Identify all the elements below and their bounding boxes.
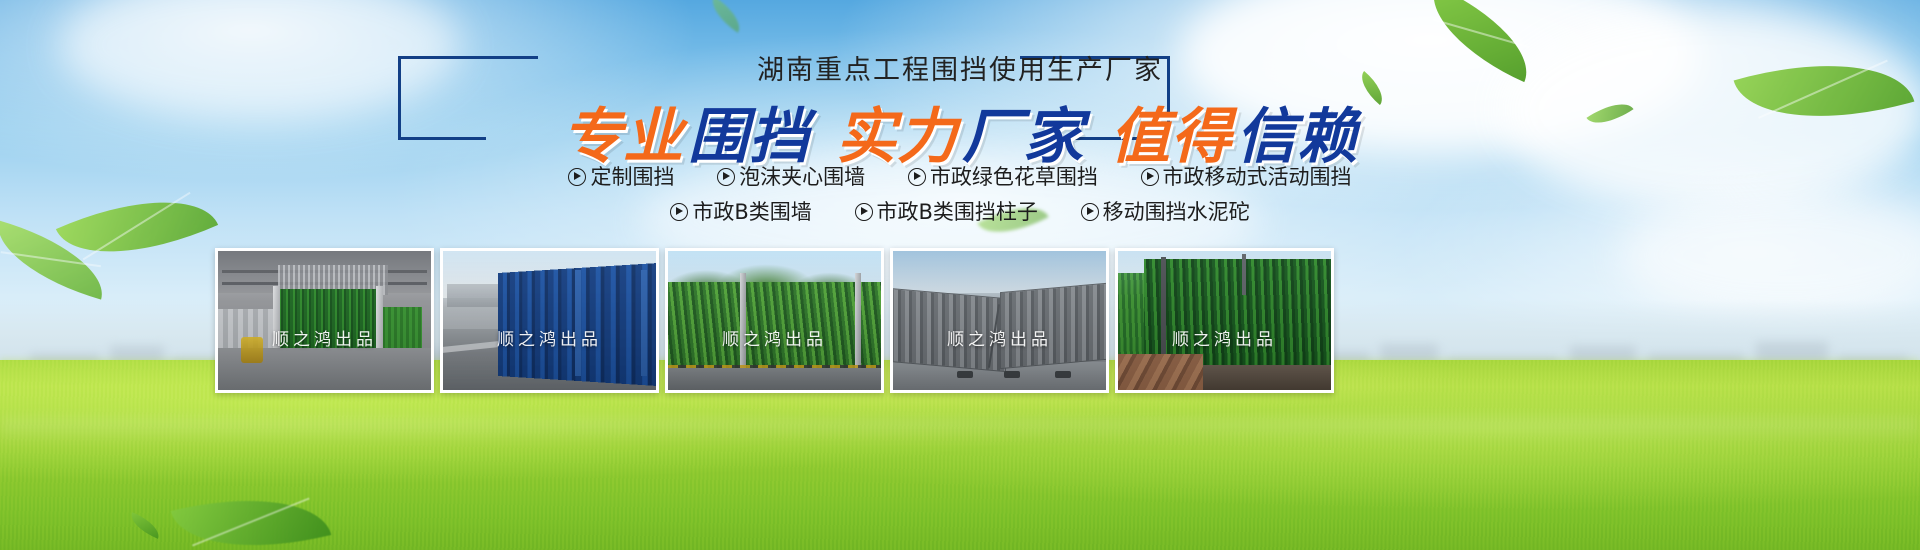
product-thumbnail[interactable]: 顺之鸿出品 bbox=[215, 248, 434, 393]
product-thumbnail[interactable]: 顺之鸿出品 bbox=[440, 248, 659, 393]
feature-item[interactable]: 泡沫夹心围墙 bbox=[717, 161, 865, 191]
feature-list-row-2: 市政B类围墙 市政B类围挡柱子 移动围挡水泥砣 bbox=[0, 196, 1920, 226]
play-circle-icon bbox=[717, 168, 735, 186]
product-thumbnail-gallery: 顺之鸿出品 顺之鸿出品 bbox=[215, 248, 1350, 393]
feature-item[interactable]: 市政B类围墙 bbox=[670, 196, 811, 226]
feature-label: 市政B类围墙 bbox=[692, 200, 811, 224]
promo-banner: 湖南重点工程围挡使用生产厂家 专业围挡实力厂家值得信赖 定制围挡 泡沫夹心围墙 … bbox=[0, 0, 1920, 550]
feature-list-row-1: 定制围挡 泡沫夹心围墙 市政绿色花草围挡 市政移动式活动围挡 bbox=[0, 161, 1920, 191]
product-thumbnail[interactable]: 顺之鸿出品 bbox=[1115, 248, 1334, 393]
play-circle-icon bbox=[670, 203, 688, 221]
feature-label: 市政移动式活动围挡 bbox=[1163, 165, 1352, 189]
product-thumbnail[interactable]: 顺之鸿出品 bbox=[665, 248, 884, 393]
play-circle-icon bbox=[908, 168, 926, 186]
feature-label: 市政绿色花草围挡 bbox=[930, 165, 1098, 189]
feature-label: 定制围挡 bbox=[590, 165, 674, 189]
grass-highlight bbox=[0, 418, 1920, 444]
feature-item[interactable]: 定制围挡 bbox=[568, 161, 674, 191]
banner-subtitle: 湖南重点工程围挡使用生产厂家 bbox=[0, 48, 1920, 87]
play-circle-icon bbox=[568, 168, 586, 186]
play-circle-icon bbox=[1081, 203, 1099, 221]
feature-label: 移动围挡水泥砣 bbox=[1103, 200, 1250, 224]
feature-item[interactable]: 移动围挡水泥砣 bbox=[1081, 196, 1250, 226]
feature-item[interactable]: 市政B类围挡柱子 bbox=[855, 196, 1038, 226]
feature-label: 泡沫夹心围墙 bbox=[739, 165, 865, 189]
feature-item[interactable]: 市政绿色花草围挡 bbox=[908, 161, 1098, 191]
play-circle-icon bbox=[855, 203, 873, 221]
feature-item[interactable]: 市政移动式活动围挡 bbox=[1141, 161, 1352, 191]
feature-label: 市政B类围挡柱子 bbox=[877, 200, 1038, 224]
play-circle-icon bbox=[1141, 168, 1159, 186]
product-thumbnail[interactable]: 顺之鸿出品 bbox=[890, 248, 1109, 393]
